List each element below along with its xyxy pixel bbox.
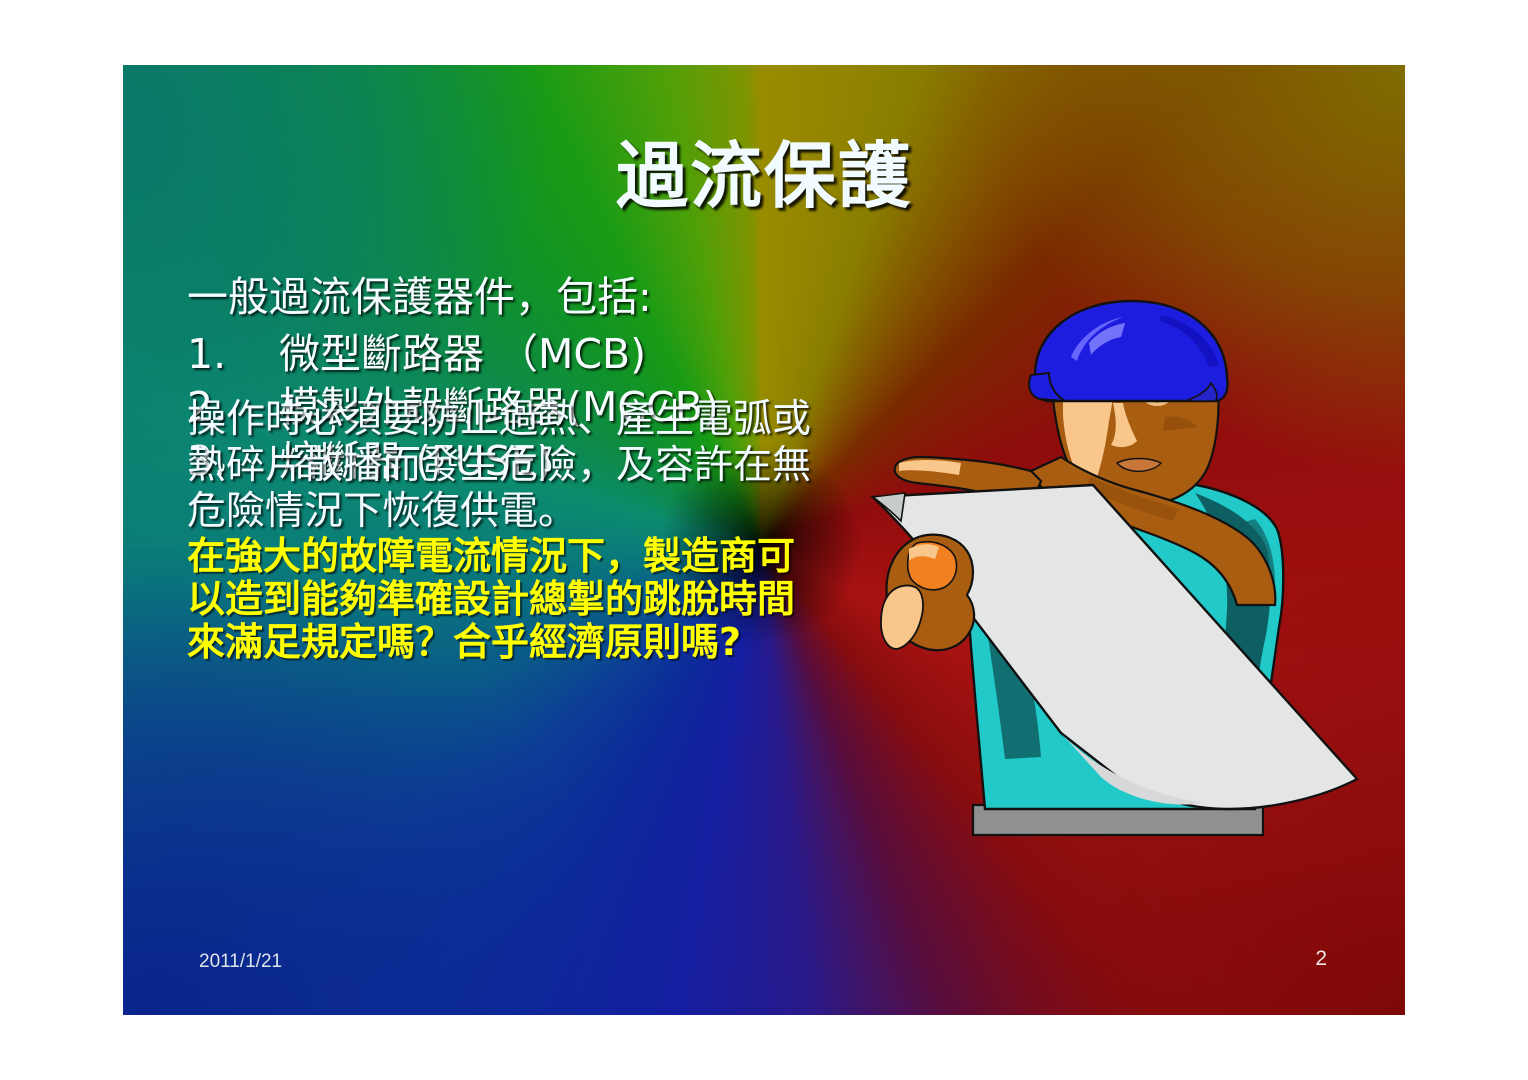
emphasis-line: 在強大的故障電流情況下，製造商可 — [187, 535, 902, 578]
paragraph-line: 操作時必須要防止過熱、產生電弧或 — [187, 397, 897, 443]
description-paragraph: 操作時必須要防止過熱、產生電弧或 熱碎片散播而發生危險，及容許在無 危險情況下恢… — [187, 397, 897, 535]
list-item-label: 微型斷路器 （MCB) — [279, 328, 646, 381]
page-title: 過流保護 — [123, 139, 1405, 215]
slide-date: 2011/1/21 — [199, 951, 282, 973]
lead-line: 一般過流保護器件，包括: — [187, 272, 907, 322]
emphasis-line: 來滿足規定嗎？合乎經濟原則嗎? — [187, 621, 902, 664]
list-item: 1. 微型斷路器 （MCB) — [187, 328, 907, 381]
paragraph-line: 熱碎片散播而發生危險，及容許在無 — [187, 443, 897, 489]
paragraph-line: 危險情況下恢復供電。 — [187, 489, 897, 535]
emphasis-question: 在強大的故障電流情況下，製造商可 以造到能夠準確設計總掣的跳脫時間 來滿足規定嗎… — [187, 535, 902, 664]
slide-page-number: 2 — [1315, 947, 1327, 971]
construction-worker-illustration — [865, 297, 1389, 875]
hard-hat — [1029, 301, 1227, 401]
presentation-slide: 過流保護 一般過流保護器件，包括: 1. 微型斷路器 （MCB) 2. 模製外殼… — [123, 65, 1405, 1015]
list-item-marker: 1. — [187, 328, 279, 381]
emphasis-line: 以造到能夠準確設計總掣的跳脫時間 — [187, 578, 902, 621]
